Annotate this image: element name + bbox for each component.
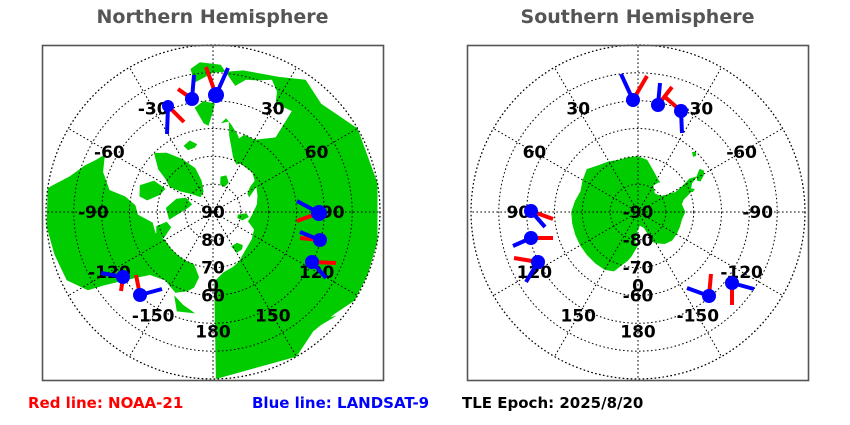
south-lon-label: 60: [523, 143, 547, 163]
satellite-position-marker: [702, 289, 716, 303]
satellite-position-marker: [185, 92, 199, 106]
legend: Red line: NOAA-21 Blue line: LANDSAT-9 T…: [0, 392, 850, 420]
north-lon-label: -60: [94, 143, 125, 163]
north-lon-label: 150: [255, 307, 291, 327]
polar-plots-canvas: 908070600306090120150180-150-120-90-60-3…: [0, 0, 850, 425]
satellite-position-marker: [651, 98, 665, 112]
satellite-position-marker: [133, 288, 147, 302]
north-lon-label: 30: [261, 99, 285, 119]
north-lon-label: -150: [132, 307, 175, 327]
satellite-position-marker: [674, 104, 688, 118]
south-lat-label: -90: [623, 203, 654, 223]
satellite-position-marker: [725, 276, 739, 290]
satellite-position-marker: [531, 255, 545, 269]
north-lon-label: -90: [78, 203, 109, 223]
north-lat-label: 90: [201, 203, 225, 223]
north-plot-group: 908070600306090120150180-150-120-90-60-3…: [42, 45, 384, 381]
south-lon-label: -60: [726, 143, 757, 163]
satellite-position-marker: [313, 233, 327, 247]
satellite-position-marker: [524, 204, 538, 218]
satellite-position-marker: [626, 93, 640, 107]
south-lon-label: 30: [566, 99, 590, 119]
satellite-groundtrack-figure: Northern Hemisphere Southern Hemisphere …: [0, 0, 850, 425]
legend-red-line: Red line: NOAA-21: [28, 394, 183, 412]
satellite-position-marker: [524, 231, 538, 245]
satellite-position-marker: [305, 255, 319, 269]
south-plot-group: -90-80-70-600306090120150180-150-120-90-…: [467, 45, 809, 381]
north-lon-label: 180: [195, 323, 231, 343]
south-lon-zero-label: 0: [632, 276, 644, 296]
legend-blue-line: Blue line: LANDSAT-9: [252, 394, 429, 412]
south-lon-label: 180: [620, 323, 656, 343]
satellite-position-marker: [311, 205, 327, 221]
north-lon-label: 60: [305, 143, 329, 163]
south-lon-label: -150: [677, 307, 720, 327]
south-lon-label: 150: [560, 307, 596, 327]
satellite-position-marker: [116, 270, 130, 284]
south-lat-label: -80: [623, 231, 654, 251]
south-lon-label: -90: [742, 203, 773, 223]
north-lat-label: 80: [201, 231, 225, 251]
satellite-position-marker: [162, 100, 174, 112]
north-lon-zero-label: 0: [207, 276, 219, 296]
legend-tle-epoch: TLE Epoch: 2025/8/20: [462, 394, 643, 412]
satellite-position-marker: [208, 87, 224, 103]
